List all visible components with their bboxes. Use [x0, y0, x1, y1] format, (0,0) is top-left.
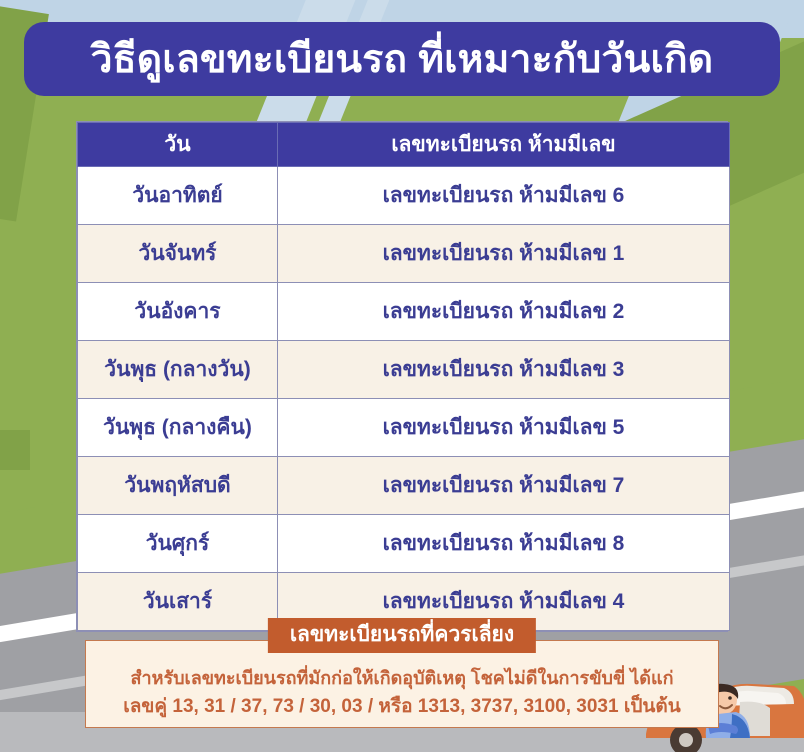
cell-rule: เลขทะเบียนรถ ห้ามมีเลข 2 [278, 283, 730, 341]
lucky-number-table: วัน เลขทะเบียนรถ ห้ามมีเลข วันอาทิตย์เลข… [77, 122, 730, 631]
column-header-rule: เลขทะเบียนรถ ห้ามมีเลข [278, 123, 730, 167]
cell-day: วันจันทร์ [78, 225, 278, 283]
table-row: วันพฤหัสบดีเลขทะเบียนรถ ห้ามมีเลข 7 [78, 457, 730, 515]
avoid-numbers-banner: เลขทะเบียนรถที่ควรเลี่ยง [268, 618, 536, 653]
column-header-day: วัน [78, 123, 278, 167]
cell-rule: เลขทะเบียนรถ ห้ามมีเลข 5 [278, 399, 730, 457]
cell-day: วันพุธ (กลางคืน) [78, 399, 278, 457]
cell-day: วันอาทิตย์ [78, 167, 278, 225]
lucky-number-table-container: วัน เลขทะเบียนรถ ห้ามมีเลข วันอาทิตย์เลข… [76, 121, 728, 632]
cell-rule: เลขทะเบียนรถ ห้ามมีเลข 6 [278, 167, 730, 225]
cell-rule: เลขทะเบียนรถ ห้ามมีเลข 7 [278, 457, 730, 515]
avoid-numbers-box: สำหรับเลขทะเบียนรถที่มักก่อให้เกิดอุบัติ… [85, 640, 719, 728]
cell-day: วันอังคาร [78, 283, 278, 341]
cell-rule: เลขทะเบียนรถ ห้ามมีเลข 1 [278, 225, 730, 283]
cell-day: วันพฤหัสบดี [78, 457, 278, 515]
grass-shade-patch-edge [0, 430, 30, 470]
table-row: วันพุธ (กลางคืน)เลขทะเบียนรถ ห้ามมีเลข 5 [78, 399, 730, 457]
table-row: วันจันทร์เลขทะเบียนรถ ห้ามมีเลข 1 [78, 225, 730, 283]
page-title: วิธีดูเลขทะเบียนรถ ที่เหมาะกับวันเกิด [91, 40, 714, 79]
table-header-row: วัน เลขทะเบียนรถ ห้ามมีเลข [78, 123, 730, 167]
cell-day: วันพุธ (กลางวัน) [78, 341, 278, 399]
table-row: วันอาทิตย์เลขทะเบียนรถ ห้ามมีเลข 6 [78, 167, 730, 225]
table-body: วันอาทิตย์เลขทะเบียนรถ ห้ามมีเลข 6วันจัน… [78, 167, 730, 631]
cell-day: วันเสาร์ [78, 573, 278, 631]
cell-day: วันศุกร์ [78, 515, 278, 573]
cell-rule: เลขทะเบียนรถ ห้ามมีเลข 3 [278, 341, 730, 399]
avoid-numbers-description: สำหรับเลขทะเบียนรถที่มักก่อให้เกิดอุบัติ… [86, 663, 718, 692]
cell-rule: เลขทะเบียนรถ ห้ามมีเลข 8 [278, 515, 730, 573]
avoid-numbers-list: เลขคู่ 13, 31 / 37, 73 / 30, 03 / หรือ 1… [86, 691, 718, 721]
table-row: วันอังคารเลขทะเบียนรถ ห้ามมีเลข 2 [78, 283, 730, 341]
table-row: วันพุธ (กลางวัน)เลขทะเบียนรถ ห้ามมีเลข 3 [78, 341, 730, 399]
page-title-banner: วิธีดูเลขทะเบียนรถ ที่เหมาะกับวันเกิด [24, 22, 780, 96]
table-row: วันศุกร์เลขทะเบียนรถ ห้ามมีเลข 8 [78, 515, 730, 573]
table-header: วัน เลขทะเบียนรถ ห้ามมีเลข [78, 123, 730, 167]
